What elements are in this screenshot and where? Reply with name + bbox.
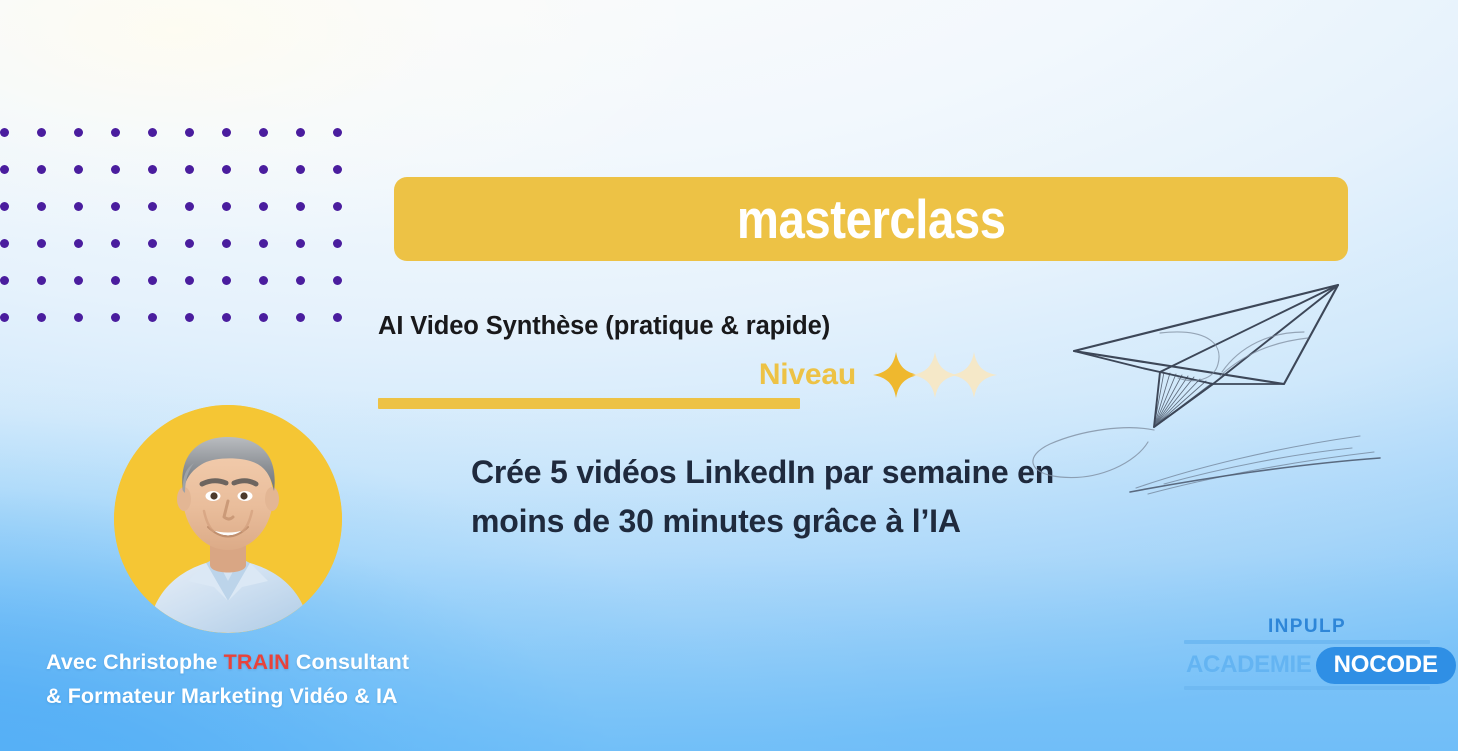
logo-main-row: ACADEMIE NOCODE xyxy=(1184,644,1430,686)
grid-dot xyxy=(333,276,342,285)
grid-dot xyxy=(222,239,231,248)
masterclass-label: masterclass xyxy=(737,192,1006,247)
grid-dot xyxy=(148,276,157,285)
grid-dot xyxy=(37,202,46,211)
grid-dot xyxy=(333,128,342,137)
grid-dot xyxy=(259,239,268,248)
grid-dot xyxy=(185,276,194,285)
grid-dot xyxy=(37,239,46,248)
headline-line-2: moins de 30 minutes grâce à l’IA xyxy=(471,503,961,539)
grid-dot xyxy=(74,202,83,211)
logo-rule-bottom xyxy=(1184,686,1430,690)
author-caption: Avec Christophe TRAIN Consultant & Forma… xyxy=(46,645,516,713)
grid-dot xyxy=(259,165,268,174)
author-prefix: Avec Christophe xyxy=(46,650,224,674)
author-suffix: Consultant xyxy=(290,650,409,674)
course-subtitle: AI Video Synthèse (pratique & rapide) xyxy=(378,312,830,341)
grid-dot xyxy=(111,313,120,322)
grid-dot xyxy=(185,239,194,248)
grid-dot xyxy=(148,165,157,174)
grid-dot xyxy=(296,128,305,137)
grid-dot xyxy=(148,313,157,322)
grid-dot xyxy=(333,313,342,322)
grid-dot xyxy=(185,165,194,174)
grid-dot xyxy=(74,276,83,285)
avatar xyxy=(114,405,342,633)
grid-dot xyxy=(37,276,46,285)
grid-dot xyxy=(259,276,268,285)
author-surname: TRAIN xyxy=(224,650,290,674)
grid-dot xyxy=(259,313,268,322)
grid-dot xyxy=(37,128,46,137)
grid-dot xyxy=(111,276,120,285)
grid-dot xyxy=(0,165,9,174)
sparkle-icon-faded-2 xyxy=(948,349,1000,401)
grid-dot xyxy=(74,313,83,322)
level-label: Niveau xyxy=(759,358,856,392)
grid-dot xyxy=(222,128,231,137)
grid-dot xyxy=(222,202,231,211)
logo-academie-text: ACADEMIE xyxy=(1184,651,1312,679)
grid-dot xyxy=(111,239,120,248)
headline-line-1: Crée 5 vidéos LinkedIn par semaine en xyxy=(471,454,1054,490)
level-stars xyxy=(870,349,1000,401)
grid-dot xyxy=(0,202,9,211)
masterclass-banner: masterclass xyxy=(394,177,1348,261)
grid-dot xyxy=(222,165,231,174)
grid-dot xyxy=(0,239,9,248)
dot-grid-decoration xyxy=(0,128,352,332)
grid-dot xyxy=(0,313,9,322)
grid-dot xyxy=(259,128,268,137)
grid-dot xyxy=(111,165,120,174)
grid-dot xyxy=(111,202,120,211)
grid-dot xyxy=(296,202,305,211)
grid-dot xyxy=(222,313,231,322)
grid-dot xyxy=(333,165,342,174)
logo-nocode-pill: NOCODE xyxy=(1316,647,1456,684)
grid-dot xyxy=(333,202,342,211)
grid-dot xyxy=(148,128,157,137)
grid-dot xyxy=(74,165,83,174)
masterclass-poster: Avec Christophe TRAIN Consultant & Forma… xyxy=(0,0,1458,751)
grid-dot xyxy=(259,202,268,211)
grid-dot xyxy=(333,239,342,248)
grid-dot xyxy=(0,128,9,137)
grid-dot xyxy=(296,239,305,248)
grid-dot xyxy=(111,128,120,137)
grid-dot xyxy=(185,313,194,322)
gold-divider-rule xyxy=(378,398,800,409)
level-row: Niveau xyxy=(378,352,1000,398)
page-title: Crée 5 vidéos LinkedIn par semaine en mo… xyxy=(471,448,1171,546)
grid-dot xyxy=(185,202,194,211)
grid-dot xyxy=(0,276,9,285)
grid-dot xyxy=(296,276,305,285)
grid-dot xyxy=(185,128,194,137)
grid-dot xyxy=(148,202,157,211)
author-role-line: & Formateur Marketing Vidéo & IA xyxy=(46,684,398,708)
grid-dot xyxy=(37,313,46,322)
grid-dot xyxy=(296,165,305,174)
brand-logo[interactable]: INPULP ACADEMIE NOCODE xyxy=(1184,616,1430,692)
grid-dot xyxy=(74,128,83,137)
grid-dot xyxy=(296,313,305,322)
grid-dot xyxy=(37,165,46,174)
grid-dot xyxy=(148,239,157,248)
grid-dot xyxy=(222,276,231,285)
grid-dot xyxy=(74,239,83,248)
logo-inpulp-text: INPULP xyxy=(1184,616,1430,638)
